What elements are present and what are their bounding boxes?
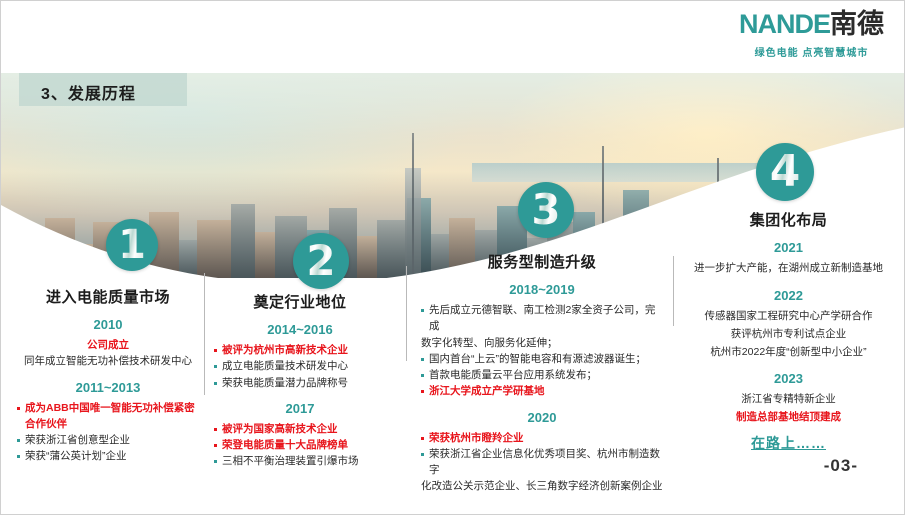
badge-number: 1 <box>118 225 146 265</box>
year-label: 2017 <box>214 401 386 416</box>
column-footer: 在路上…… <box>686 433 891 453</box>
section-subtitle-chip: 3、发展历程 <box>19 73 187 106</box>
year-label: 2010 <box>17 317 199 332</box>
brand-logo: NANDE南德 绿色电能 点亮智慧城市 <box>739 11 884 59</box>
timeline-badge-4: 4 <box>756 143 814 201</box>
timeline-entry: 进一步扩大产能，在湖州成立新制造基地 <box>686 260 891 278</box>
section-subtitle-label: 3、发展历程 <box>41 80 136 104</box>
timeline-column-2: 奠定行业地位2014~2016被评为杭州市高新技术企业成立电能质量技术研发中心荣… <box>214 291 386 470</box>
timeline-badge-1: 1 <box>106 219 158 271</box>
logo-wordmark: NANDE南德 <box>739 11 884 38</box>
timeline-entry: 三相不平衡治理装置引爆市场 <box>214 453 386 469</box>
page-number: -03- <box>824 456 858 476</box>
timeline-entry: 荣登电能质量十大品牌榜单 <box>214 437 386 453</box>
column-heading: 服务型制造升级 <box>421 251 663 272</box>
timeline-entry: 公司成立 <box>17 337 199 353</box>
timeline-column-3: 服务型制造升级2018~2019先后成立元德智联、南工检测2家全资子公司，完成数… <box>421 251 663 495</box>
timeline-column-1: 进入电能质量市场2010公司成立同年成立智能无功补偿技术研发中心2011~201… <box>17 286 199 465</box>
column-divider <box>406 266 407 361</box>
badge-number: 4 <box>770 150 801 194</box>
timeline-entry: 浙江大学成立产学研基地 <box>421 383 663 399</box>
timeline-entry: 荣获浙江省企业信息化优秀项目奖、杭州市制造数字 <box>421 446 663 479</box>
timeline-entry: 被评为杭州市高新技术企业 <box>214 342 386 358</box>
timeline-entry: 首款电能质量云平台应用系统发布； <box>421 367 663 383</box>
logo-cjk: 南德 <box>830 9 884 39</box>
year-label: 2022 <box>686 288 891 303</box>
timeline-column-4: 集团化布局2021进一步扩大产能，在湖州成立新制造基地2022传感器国家工程研究… <box>686 209 891 453</box>
column-divider <box>204 273 205 395</box>
timeline-entry: 先后成立元德智联、南工检测2家全资子公司，完成 <box>421 302 663 335</box>
timeline-entry: 数字化转型、向服务化延伸； <box>421 335 663 351</box>
timeline-entry: 传感器国家工程研究中心产学研合作 <box>686 308 891 326</box>
timeline-entry: 获评杭州市专利试点企业 <box>686 326 891 344</box>
year-label: 2014~2016 <box>214 322 386 337</box>
timeline-entry: 荣获浙江省创意型企业 <box>17 432 199 448</box>
logo-latin: NANDE <box>739 9 830 39</box>
timeline-entry: 同年成立智能无功补偿技术研发中心 <box>17 353 199 369</box>
timeline-entry: 制造总部基地结顶建成 <box>686 409 891 427</box>
year-label: 2023 <box>686 371 891 386</box>
year-label: 2020 <box>421 410 663 425</box>
logo-tagline: 绿色电能 点亮智慧城市 <box>739 44 884 59</box>
column-heading: 进入电能质量市场 <box>17 286 199 307</box>
badge-number: 3 <box>531 189 560 231</box>
timeline-entry: 被评为国家高新技术企业 <box>214 421 386 437</box>
timeline-entry: 成立电能质量技术研发中心 <box>214 358 386 374</box>
timeline-badge-3: 3 <box>518 182 574 238</box>
timeline-entry: 浙江省专精特新企业 <box>686 391 891 409</box>
timeline-entry: 杭州市2022年度“创新型中小企业” <box>686 344 891 362</box>
timeline-entry: 成为ABB中国唯一智能无功补偿紧密合作伙伴 <box>17 400 199 433</box>
timeline-entry: 国内首台“上云”的智能电容和有源滤波器诞生； <box>421 351 663 367</box>
column-heading: 奠定行业地位 <box>214 291 386 312</box>
year-label: 2021 <box>686 240 891 255</box>
column-divider <box>673 256 674 326</box>
timeline-entry: 荣获电能质量潜力品牌称号 <box>214 375 386 391</box>
year-label: 2018~2019 <box>421 282 663 297</box>
badge-number: 2 <box>306 240 335 282</box>
year-label: 2011~2013 <box>17 380 199 395</box>
timeline-entry: 化改造公关示范企业、长三角数字经济创新案例企业 <box>421 478 663 494</box>
column-heading: 集团化布局 <box>686 209 891 230</box>
timeline-entry: 荣获“蒲公英计划”企业 <box>17 448 199 464</box>
timeline-entry: 荣获杭州市瞪羚企业 <box>421 430 663 446</box>
timeline-badge-2: 2 <box>293 233 349 289</box>
slide-root: 一、集团概况 Company Introduction NANDE南德 绿色电能… <box>0 0 905 515</box>
